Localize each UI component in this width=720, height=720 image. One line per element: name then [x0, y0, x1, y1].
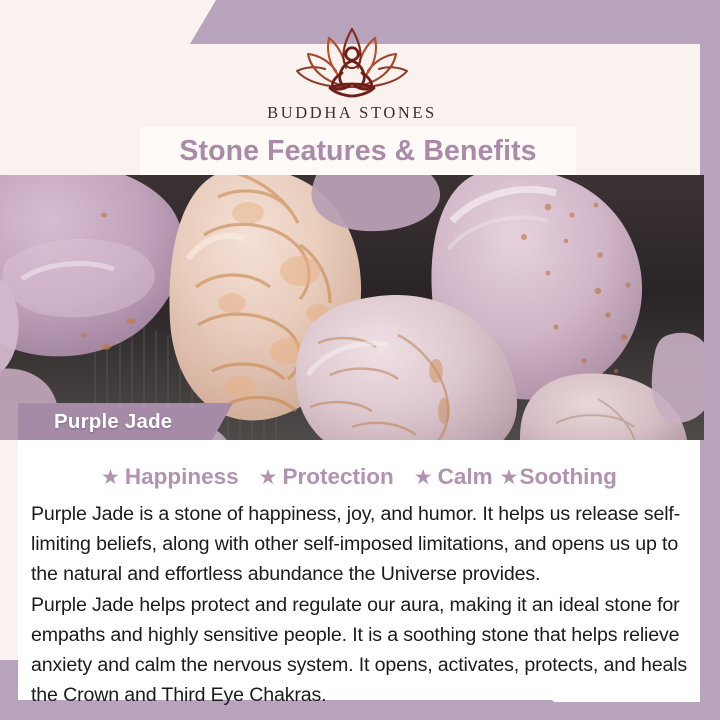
lotus-meditation-icon: [277, 24, 427, 98]
brand-wordmark: BUDDHA STONES: [267, 103, 437, 123]
benefit-protection: ★ Protection: [259, 464, 394, 490]
benefit-label: Protection: [283, 464, 394, 490]
benefit-label: Calm: [438, 464, 493, 490]
stone-photo: [0, 175, 704, 440]
star-icon: ★: [101, 467, 120, 488]
description-paragraph-2: Purple Jade helps protect and regulate o…: [31, 590, 691, 711]
benefit-calm: ★ Calm: [414, 464, 493, 490]
infographic-card: BUDDHA STONES Stone Features & Benefits: [0, 0, 720, 720]
section-title-banner: Stone Features & Benefits: [140, 127, 576, 175]
benefits-row: ★ Happiness ★ Protection ★ Calm ★ Soothi…: [18, 461, 700, 493]
benefit-label: Soothing: [519, 464, 616, 490]
photo-caption-tab: Purple Jade: [18, 403, 233, 440]
brand-logo: BUDDHA STONES: [0, 24, 704, 123]
description-paragraph-1: Purple Jade is a stone of happiness, joy…: [31, 499, 691, 590]
star-icon: ★: [259, 467, 278, 488]
benefit-happiness: ★ Happiness: [101, 464, 239, 490]
star-icon: ★: [414, 467, 433, 488]
photo-caption-label: Purple Jade: [54, 410, 172, 434]
benefit-label: Happiness: [125, 464, 239, 490]
benefit-soothing: ★ Soothing: [500, 464, 617, 490]
star-icon: ★: [500, 467, 519, 488]
description-text: Purple Jade is a stone of happiness, joy…: [31, 499, 691, 710]
page-title: Stone Features & Benefits: [179, 135, 536, 168]
